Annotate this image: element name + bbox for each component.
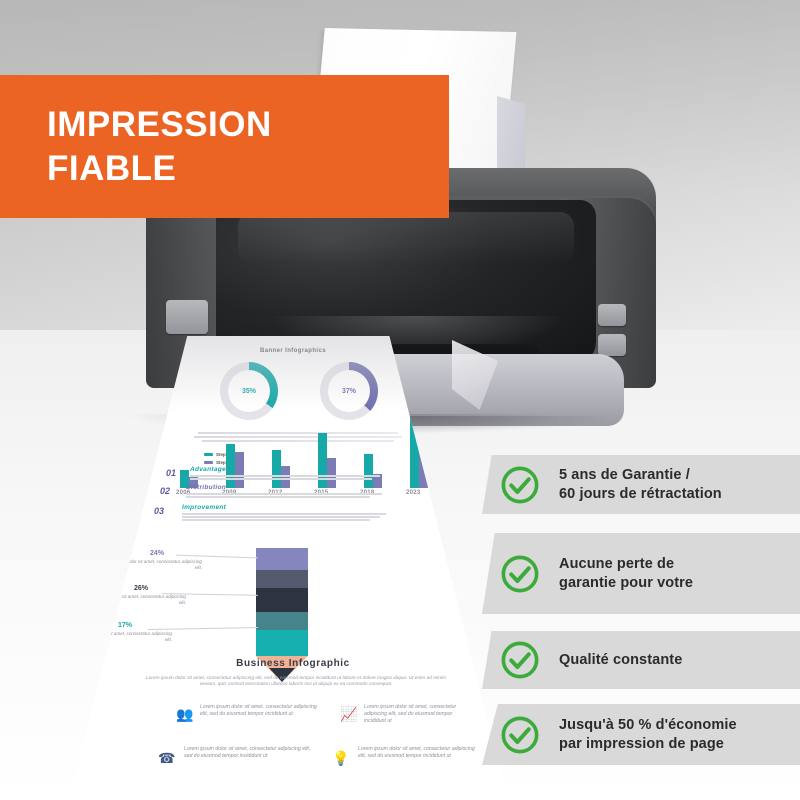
- headline-line-1: IMPRESSION: [47, 103, 449, 147]
- printer-button-right-top[interactable]: [598, 304, 626, 326]
- feature-line-2: par impression de page: [559, 735, 737, 754]
- headline-line-2: FIABLE: [47, 147, 449, 191]
- product-marketing-image: Banner Infographics 35% 37% Step 01 St: [0, 0, 800, 800]
- feature-text-quality: Qualité constante: [559, 651, 682, 670]
- feature-text-savings: Jusqu'à 50 % d'économie par impression d…: [559, 716, 737, 754]
- feature-text-warranty: 5 ans de Garantie / 60 jours de rétracta…: [559, 466, 722, 504]
- feature-line-1: Qualité constante: [559, 651, 682, 670]
- headline-banner: IMPRESSION FIABLE: [0, 75, 449, 218]
- printer-lid-highlight: [238, 212, 574, 264]
- feature-box-quality[interactable]: Qualité constante: [482, 631, 800, 689]
- feature-line-1: Aucune perte de: [559, 555, 693, 574]
- printer-button-right-bottom[interactable]: [598, 334, 626, 356]
- feature-box-no-warranty-loss[interactable]: Aucune perte de garantie pour votre: [482, 533, 800, 614]
- check-circle-icon: [499, 639, 541, 681]
- printer-button-left[interactable]: [166, 300, 208, 334]
- check-circle-icon: [499, 464, 541, 506]
- feature-line-2: garantie pour votre: [559, 574, 693, 593]
- feature-text-no-warranty-loss: Aucune perte de garantie pour votre: [559, 555, 693, 593]
- feature-box-warranty[interactable]: 5 ans de Garantie / 60 jours de rétracta…: [482, 455, 800, 514]
- check-circle-icon: [499, 714, 541, 756]
- feature-line-1: 5 ans de Garantie /: [559, 466, 722, 485]
- check-circle-icon: [499, 553, 541, 595]
- feature-line-2: 60 jours de rétractation: [559, 485, 722, 504]
- feature-box-savings[interactable]: Jusqu'à 50 % d'économie par impression d…: [482, 704, 800, 765]
- feature-line-1: Jusqu'à 50 % d'économie: [559, 716, 737, 735]
